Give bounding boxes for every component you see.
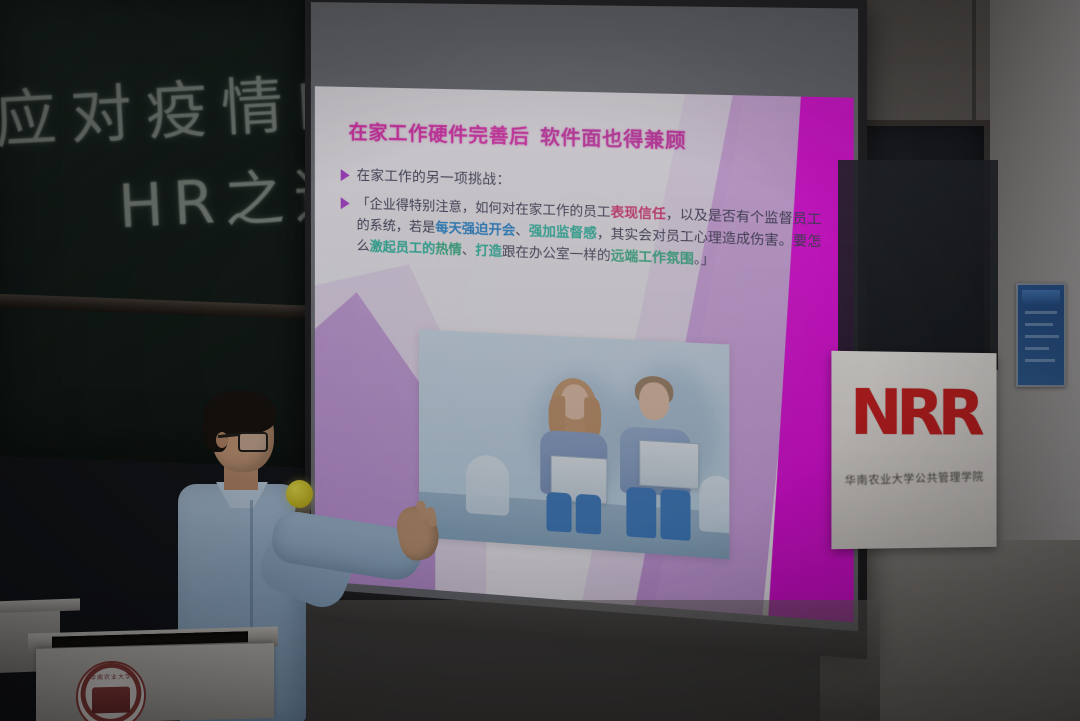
notice-line (1025, 335, 1059, 338)
para-highlight-trust: 表现信任 (611, 205, 666, 222)
slide-paragraph: 「企业得特别注意，如何对在家工作的员工表现信任，以及是否有个监督员工的系统，若是… (357, 194, 824, 276)
photo-chair (466, 454, 509, 516)
para-seg-1: 「企业得特别注意，如何对在家工作的员工 (357, 197, 611, 221)
para-seg-2: ，以及是否有个监督 (666, 207, 793, 227)
screenshot-root: 应对疫情的 HR之道 在家工作硬件完善后软件面也得兼顾 (0, 0, 1080, 721)
notice-line (1025, 311, 1057, 314)
slide-photo (419, 330, 729, 560)
photo-man-legs (660, 489, 690, 541)
photo-chair (699, 475, 729, 534)
slide-title-part-2: 软件面也得兼顾 (540, 126, 686, 153)
banner-logo-text: NRR (850, 381, 979, 444)
banner-backing (838, 160, 998, 370)
banner: NRR 华南农业大学公共管理学院 (831, 351, 996, 549)
presenter-finger (425, 506, 438, 527)
notice-line (1025, 323, 1053, 326)
para-seg-8: 跟在办公室一样的 (502, 245, 611, 265)
notice-line (1025, 359, 1055, 362)
para-seg-9: 。」 (694, 252, 715, 269)
triangle-bullet-icon (341, 197, 350, 209)
notice-board-header (1022, 290, 1060, 304)
photo-man-head (639, 382, 669, 421)
para-highlight-build: 打造 (475, 244, 502, 260)
notice-board (1016, 283, 1066, 387)
para-seg-7: 、 (462, 243, 475, 259)
crest-emblem-inner (92, 686, 130, 713)
podium (36, 643, 274, 721)
glasses-icon (238, 432, 268, 452)
para-seg-4: 、 (515, 224, 528, 240)
triangle-bullet-icon (341, 169, 350, 181)
para-highlight-surveillance: 强加监督感 (529, 224, 597, 242)
para-highlight-daily-meetings: 每天强迫开会 (435, 221, 515, 239)
microphone-icon (286, 480, 313, 508)
notice-line (1025, 347, 1049, 350)
slide-title-part-1: 在家工作硬件完善后 (349, 121, 530, 148)
photo-man-legs (626, 487, 656, 539)
slide-bullet-1-text: 在家工作的另一项挑战： (357, 166, 511, 192)
photo-woman-legs (546, 492, 571, 533)
para-seg-5: ，其实会对员工心理造成伤 (597, 227, 764, 249)
para-highlight-inspire: 激起员工的 (370, 240, 436, 258)
photo-man-laptop (639, 440, 699, 490)
banner-subtitle: 华南农业大学公共管理学院 (844, 468, 984, 488)
photo-woman-legs (576, 494, 601, 535)
para-highlight-remote-atmosphere: 远端工作氛围 (611, 249, 694, 268)
slide-bullet-1: 在家工作的另一项挑战： (341, 165, 511, 192)
para-highlight-passion: 热情 (435, 242, 462, 258)
